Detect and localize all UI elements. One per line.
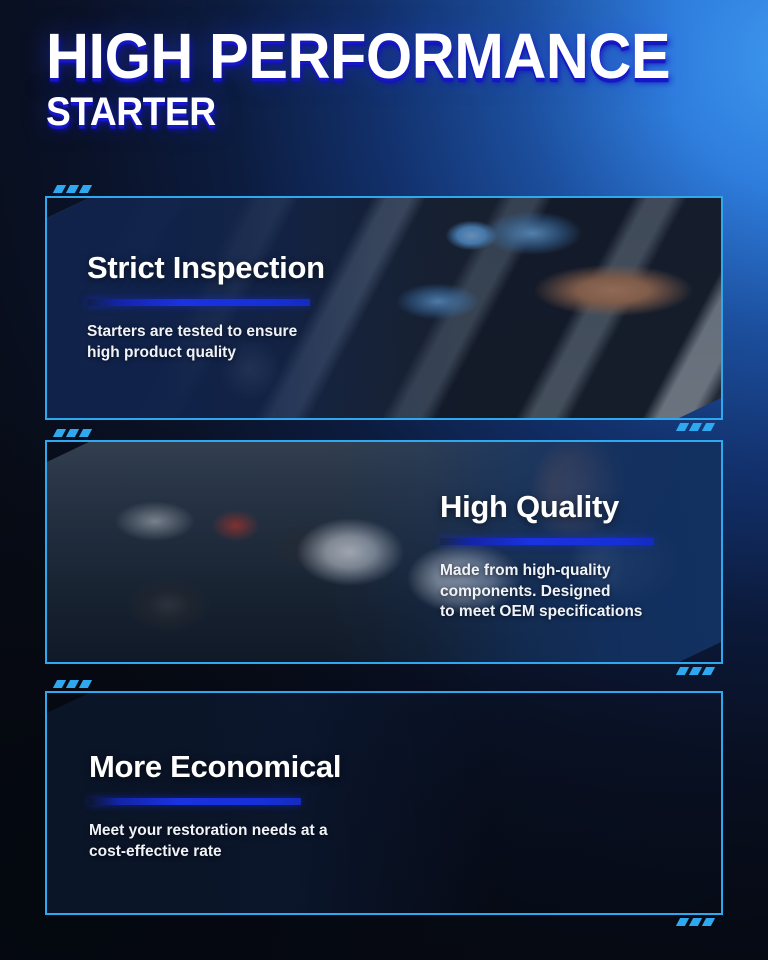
card-title: Strict Inspection: [87, 250, 349, 286]
card-title: More Economical: [89, 749, 379, 785]
corner-slash-marks-bottom-right: [678, 423, 713, 431]
card-divider: [440, 538, 654, 545]
card-title: High Quality: [440, 489, 710, 525]
headline-primary: HIGH PERFORMANCE: [46, 26, 670, 87]
corner-slash-marks-top-left: [55, 680, 90, 688]
feature-card-high-quality[interactable]: High Quality Made from high-quality comp…: [45, 440, 723, 664]
corner-slash-marks-bottom-right: [678, 667, 713, 675]
corner-slash-marks-top-left: [55, 429, 90, 437]
headline-secondary: STARTER: [46, 93, 670, 131]
feature-card-strict-inspection[interactable]: Strict Inspection Starters are tested to…: [45, 196, 723, 420]
card-body-text: Made from high-quality components. Desig…: [440, 561, 710, 623]
card-body-text: Meet your restoration needs at a cost-ef…: [89, 821, 379, 862]
card-body-text: Starters are tested to ensure high produ…: [87, 322, 349, 363]
card-copy-block: High Quality Made from high-quality comp…: [440, 489, 710, 623]
card-copy-block: Strict Inspection Starters are tested to…: [87, 250, 349, 363]
corner-slash-marks-bottom-right: [678, 918, 713, 926]
corner-slash-marks-top-left: [55, 185, 90, 193]
card-divider: [89, 798, 301, 805]
page-title: HIGH PERFORMANCE STARTER: [46, 26, 717, 132]
card-copy-block: More Economical Meet your restoration ne…: [89, 749, 379, 862]
card-divider: [87, 299, 310, 306]
promo-banner: HIGH PERFORMANCE STARTER Strict Inspecti…: [0, 0, 768, 960]
feature-card-more-economical[interactable]: More Economical Meet your restoration ne…: [45, 691, 723, 915]
